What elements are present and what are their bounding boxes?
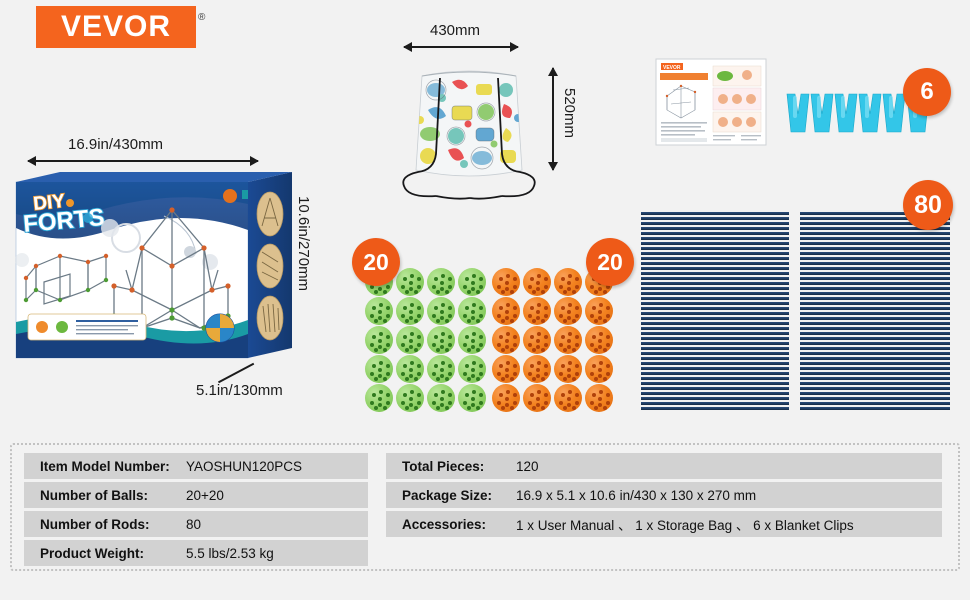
green-ball xyxy=(458,268,486,296)
ball-hole xyxy=(561,306,565,310)
ball-hole xyxy=(405,319,409,323)
ball-hole xyxy=(544,393,548,397)
ball-hole xyxy=(386,285,390,289)
ball-hole xyxy=(575,372,579,376)
ball-hole xyxy=(497,314,501,318)
ball-hole xyxy=(409,368,413,372)
ball-hole xyxy=(467,406,471,410)
ball-hole xyxy=(463,314,467,318)
ball-hole xyxy=(434,335,438,339)
ball-hole xyxy=(559,372,563,376)
ball-hole xyxy=(386,393,390,397)
ball-hole xyxy=(513,277,517,281)
rod xyxy=(800,297,950,300)
ball-hole xyxy=(497,285,501,289)
ball-hole xyxy=(374,406,378,410)
ball-hole xyxy=(530,277,534,281)
rod xyxy=(641,297,789,300)
ball-hole xyxy=(505,316,509,320)
ball-hole xyxy=(410,332,414,336)
ball-hole xyxy=(568,274,572,278)
storage-bag xyxy=(394,58,544,208)
rod xyxy=(641,282,789,285)
ball-hole xyxy=(532,290,536,294)
ball-hole xyxy=(567,316,571,320)
ball-hole xyxy=(378,310,382,314)
rod xyxy=(641,337,789,340)
ball-hole xyxy=(476,319,480,323)
ball-hole xyxy=(575,314,579,318)
rod xyxy=(641,347,789,350)
ball-hole xyxy=(465,335,469,339)
ball-hole xyxy=(417,343,421,347)
ball-hole xyxy=(513,285,517,289)
ball-hole xyxy=(499,393,503,397)
bag-height-arrow xyxy=(552,68,554,170)
ball-hole xyxy=(410,361,414,365)
ball-hole xyxy=(561,364,565,368)
ball-hole xyxy=(541,319,545,323)
rod xyxy=(641,227,789,230)
green-ball xyxy=(396,384,424,412)
ball-hole xyxy=(603,377,607,381)
spec-column-left: Item Model Number:YAOSHUN120PCSNumber of… xyxy=(24,453,368,566)
ball-hole xyxy=(544,372,548,376)
spec-key: Total Pieces: xyxy=(388,459,516,474)
ball-hole xyxy=(467,319,471,323)
rods-bundle-left xyxy=(641,212,789,410)
spec-row: Package Size:16.9 x 5.1 x 10.6 in/430 x … xyxy=(386,482,942,508)
ball-hole xyxy=(561,393,565,397)
orange-balls-count-badge: 20 xyxy=(586,238,634,286)
ball-hole xyxy=(559,314,563,318)
ball-hole xyxy=(386,306,390,310)
ball-hole xyxy=(409,397,413,401)
ball-hole xyxy=(568,390,572,394)
rod xyxy=(641,382,789,385)
bag-width-arrow xyxy=(404,46,518,48)
spec-column-right: Total Pieces:120Package Size:16.9 x 5.1 … xyxy=(386,453,942,566)
rod xyxy=(641,327,789,330)
orange-ball xyxy=(492,297,520,325)
rod xyxy=(641,392,789,395)
ball-hole xyxy=(594,290,598,294)
ball-hole xyxy=(544,285,548,289)
ball-hole xyxy=(590,401,594,405)
ball-hole xyxy=(409,287,413,291)
product-infographic: VEVOR ® 16.9in/430mm 10.6in/270mm 5.1in/… xyxy=(0,0,970,600)
ball-hole xyxy=(537,274,541,278)
ball-hole xyxy=(479,372,483,376)
ball-hole xyxy=(471,316,475,320)
ball-hole xyxy=(448,277,452,281)
rod xyxy=(800,337,950,340)
ball-hole xyxy=(441,390,445,394)
ball-hole xyxy=(410,303,414,307)
ball-hole xyxy=(401,372,405,376)
rod xyxy=(641,322,789,325)
orange-ball xyxy=(554,297,582,325)
ball-hole xyxy=(575,401,579,405)
ball-hole xyxy=(374,377,378,381)
ball-hole xyxy=(506,390,510,394)
green-ball xyxy=(427,326,455,354)
ball-hole xyxy=(598,368,602,372)
rod xyxy=(800,287,950,290)
ball-hole xyxy=(378,397,382,401)
ball-hole xyxy=(467,348,471,352)
ball-hole xyxy=(606,393,610,397)
ball-hole xyxy=(497,401,501,405)
ball-hole xyxy=(567,310,571,314)
ball-hole xyxy=(599,361,603,365)
box-width-arrow xyxy=(28,160,258,162)
ball-hole xyxy=(386,364,390,368)
ball-hole xyxy=(414,319,418,323)
rod xyxy=(800,242,950,245)
ball-hole xyxy=(472,274,476,278)
orange-ball xyxy=(523,297,551,325)
ball-hole xyxy=(436,290,440,294)
ball-hole xyxy=(372,335,376,339)
bag-width-label: 430mm xyxy=(430,22,480,39)
orange-ball xyxy=(492,355,520,383)
ball-hole xyxy=(441,361,445,365)
ball-hole xyxy=(505,374,509,378)
ball-hole xyxy=(506,274,510,278)
ball-hole xyxy=(592,393,596,397)
ball-hole xyxy=(505,397,509,401)
rod xyxy=(641,262,789,265)
ball-hole xyxy=(513,364,517,368)
clips-count-badge: 6 xyxy=(903,68,951,116)
ball-hole xyxy=(598,397,602,401)
ball-hole xyxy=(409,316,413,320)
ball-hole xyxy=(440,316,444,320)
ball-hole xyxy=(594,406,598,410)
spec-key: Accessories: xyxy=(388,517,516,532)
ball-hole xyxy=(575,285,579,289)
ball-hole xyxy=(378,403,382,407)
ball-hole xyxy=(440,287,444,291)
ball-hole xyxy=(599,303,603,307)
ball-hole xyxy=(440,345,444,349)
rod xyxy=(800,292,950,295)
rod xyxy=(641,292,789,295)
ball-hole xyxy=(463,401,467,405)
green-ball xyxy=(365,384,393,412)
ball-hole xyxy=(440,397,444,401)
rod xyxy=(800,247,950,250)
rod xyxy=(800,357,950,360)
ball-hole xyxy=(410,274,414,278)
orange-ball xyxy=(554,355,582,383)
rod xyxy=(641,302,789,305)
ball-hole xyxy=(445,319,449,323)
ball-hole xyxy=(572,406,576,410)
ball-hole xyxy=(409,310,413,314)
ball-hole xyxy=(401,401,405,405)
ball-hole xyxy=(417,364,421,368)
spec-value: 120 xyxy=(516,459,539,474)
rod xyxy=(641,372,789,375)
ball-hole xyxy=(544,364,548,368)
ball-hole xyxy=(572,377,576,381)
green-ball xyxy=(458,355,486,383)
ball-hole xyxy=(432,343,436,347)
spec-row: Product Weight:5.5 lbs/2.53 kg xyxy=(24,540,368,566)
rod xyxy=(800,317,950,320)
spec-key: Package Size: xyxy=(388,488,516,503)
ball-hole xyxy=(528,372,532,376)
orange-ball xyxy=(523,384,551,412)
rod xyxy=(641,212,789,215)
spec-value: 1 x User Manual 、 1 x Storage Bag 、 6 x … xyxy=(516,514,854,534)
spec-row: Item Model Number:YAOSHUN120PCS xyxy=(24,453,368,479)
ball-hole xyxy=(606,364,610,368)
ball-hole xyxy=(559,285,563,289)
ball-hole xyxy=(532,348,536,352)
ball-hole xyxy=(448,314,452,318)
ball-hole xyxy=(598,287,602,291)
green-ball xyxy=(396,297,424,325)
ball-hole xyxy=(378,287,382,291)
ball-hole xyxy=(471,345,475,349)
ball-hole xyxy=(594,377,598,381)
ball-hole xyxy=(370,372,374,376)
ball-hole xyxy=(476,406,480,410)
spec-key: Number of Rods: xyxy=(26,517,186,532)
ball-hole xyxy=(374,290,378,294)
ball-hole xyxy=(505,339,509,343)
rod xyxy=(800,377,950,380)
ball-hole xyxy=(372,393,376,397)
ball-hole xyxy=(606,314,610,318)
ball-hole xyxy=(378,345,382,349)
orange-ball xyxy=(585,326,613,354)
orange-ball xyxy=(554,326,582,354)
ball-hole xyxy=(532,377,536,381)
ball-hole xyxy=(440,368,444,372)
ball-hole xyxy=(374,348,378,352)
ball-hole xyxy=(378,374,382,378)
ball-hole xyxy=(386,372,390,376)
ball-hole xyxy=(417,401,421,405)
ball-hole xyxy=(590,285,594,289)
ball-hole xyxy=(501,406,505,410)
storage-bag-illustration xyxy=(394,58,544,203)
ball-hole xyxy=(386,314,390,318)
product-package-box: DIY FORTS xyxy=(14,170,304,365)
ball-hole xyxy=(479,285,483,289)
ball-hole xyxy=(441,274,445,278)
ball-hole xyxy=(441,303,445,307)
green-ball xyxy=(396,326,424,354)
rod xyxy=(800,387,950,390)
ball-hole xyxy=(606,343,610,347)
ball-hole xyxy=(448,364,452,368)
orange-ball xyxy=(585,384,613,412)
ball-hole xyxy=(476,290,480,294)
ball-hole xyxy=(603,406,607,410)
spec-value: 80 xyxy=(186,517,201,532)
spec-row: Number of Balls:20+20 xyxy=(24,482,368,508)
green-ball xyxy=(458,297,486,325)
rod xyxy=(641,242,789,245)
brand-name: VEVOR xyxy=(61,12,171,42)
rod xyxy=(800,307,950,310)
ball-hole xyxy=(472,361,476,365)
ball-hole xyxy=(409,403,413,407)
ball-hole xyxy=(383,348,387,352)
spec-value: YAOSHUN120PCS xyxy=(186,459,302,474)
rod xyxy=(800,312,950,315)
svg-text:VEVOR: VEVOR xyxy=(663,65,681,71)
spec-value: 5.5 lbs/2.53 kg xyxy=(186,546,274,561)
ball-hole xyxy=(603,348,607,352)
rod xyxy=(800,272,950,275)
ball-hole xyxy=(541,406,545,410)
ball-hole xyxy=(572,348,576,352)
ball-hole xyxy=(410,390,414,394)
ball-hole xyxy=(598,339,602,343)
ball-hole xyxy=(536,310,540,314)
rod xyxy=(641,387,789,390)
ball-hole xyxy=(590,343,594,347)
ball-hole xyxy=(594,348,598,352)
green-ball xyxy=(396,355,424,383)
user-manual-illustration: VEVOR xyxy=(655,58,767,146)
ball-hole xyxy=(445,377,449,381)
ball-hole xyxy=(606,335,610,339)
ball-hole xyxy=(603,319,607,323)
ball-hole xyxy=(417,306,421,310)
ball-hole xyxy=(479,335,483,339)
rod xyxy=(800,397,950,400)
rod xyxy=(641,232,789,235)
ball-hole xyxy=(432,401,436,405)
rod xyxy=(800,282,950,285)
green-ball xyxy=(427,384,455,412)
orange-ball xyxy=(585,297,613,325)
ball-hole xyxy=(537,332,541,336)
specification-table: Item Model Number:YAOSHUN120PCSNumber of… xyxy=(10,443,960,571)
ball-hole xyxy=(513,401,517,405)
ball-hole xyxy=(598,345,602,349)
ball-hole xyxy=(467,377,471,381)
ball-hole xyxy=(378,316,382,320)
spec-row: Total Pieces:120 xyxy=(386,453,942,479)
rod xyxy=(800,257,950,260)
ball-hole xyxy=(575,393,579,397)
ball-hole xyxy=(378,368,382,372)
ball-hole xyxy=(599,332,603,336)
ball-hole xyxy=(417,393,421,397)
ball-hole xyxy=(575,277,579,281)
ball-hole xyxy=(501,377,505,381)
ball-hole xyxy=(598,403,602,407)
ball-hole xyxy=(536,374,540,378)
rod xyxy=(800,402,950,405)
spec-row: Accessories:1 x User Manual 、 1 x Storag… xyxy=(386,511,942,537)
ball-hole xyxy=(379,303,383,307)
green-ball xyxy=(396,268,424,296)
ball-hole xyxy=(530,393,534,397)
ball-hole xyxy=(567,345,571,349)
ball-hole xyxy=(479,401,483,405)
rod xyxy=(641,397,789,400)
ball-hole xyxy=(568,303,572,307)
ball-hole xyxy=(501,319,505,323)
ball-hole xyxy=(436,319,440,323)
ball-hole xyxy=(479,314,483,318)
green-ball xyxy=(458,326,486,354)
rod xyxy=(641,307,789,310)
ball-hole xyxy=(544,277,548,281)
rod xyxy=(641,342,789,345)
green-ball xyxy=(365,355,393,383)
rod xyxy=(800,392,950,395)
orange-ball xyxy=(492,326,520,354)
orange-ball xyxy=(492,384,520,412)
box-depth-label: 5.1in/130mm xyxy=(196,382,283,399)
ball-hole xyxy=(598,374,602,378)
spec-key: Product Weight: xyxy=(26,546,186,561)
ball-hole xyxy=(476,377,480,381)
ball-hole xyxy=(383,319,387,323)
ball-hole xyxy=(417,335,421,339)
rod xyxy=(641,277,789,280)
orange-ball xyxy=(492,268,520,296)
ball-hole xyxy=(501,348,505,352)
ball-hole xyxy=(401,343,405,347)
ball-hole xyxy=(472,332,476,336)
ball-hole xyxy=(592,364,596,368)
ball-hole xyxy=(383,377,387,381)
ball-hole xyxy=(405,290,409,294)
green-ball xyxy=(365,326,393,354)
ball-hole xyxy=(445,406,449,410)
ball-hole xyxy=(575,364,579,368)
spec-key: Item Model Number: xyxy=(26,459,186,474)
ball-hole xyxy=(499,277,503,281)
ball-hole xyxy=(434,364,438,368)
rods-bundle-right xyxy=(800,212,950,410)
ball-hole xyxy=(386,401,390,405)
ball-hole xyxy=(544,401,548,405)
ball-hole xyxy=(536,368,540,372)
ball-hole xyxy=(513,343,517,347)
ball-hole xyxy=(606,372,610,376)
ball-hole xyxy=(598,316,602,320)
ball-hole xyxy=(590,372,594,376)
box-depth-tick xyxy=(218,363,254,383)
rod xyxy=(641,272,789,275)
ball-hole xyxy=(467,290,471,294)
ball-hole xyxy=(436,377,440,381)
rod xyxy=(641,257,789,260)
ball-hole xyxy=(403,335,407,339)
ball-hole xyxy=(530,306,534,310)
rod xyxy=(800,407,950,410)
ball-hole xyxy=(465,277,469,281)
ball-hole xyxy=(479,343,483,347)
ball-hole xyxy=(513,335,517,339)
ball-hole xyxy=(510,319,514,323)
ball-hole xyxy=(575,306,579,310)
ball-hole xyxy=(465,393,469,397)
ball-hole xyxy=(434,277,438,281)
